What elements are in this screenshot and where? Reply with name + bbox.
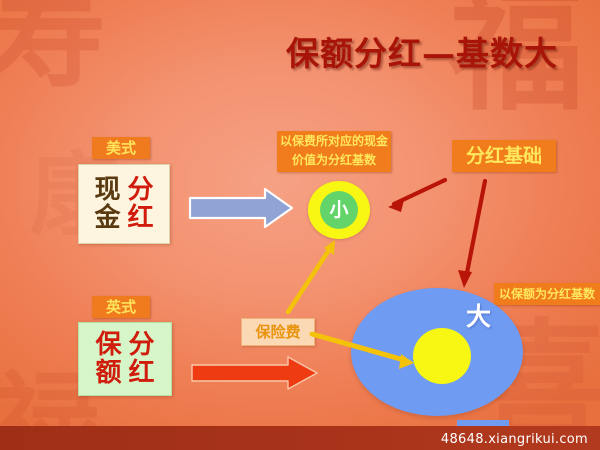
watermark-url: 48648.xiangrikui.com	[441, 432, 588, 447]
arrow-premium-to-big-circle	[312, 334, 414, 369]
arrow-basis-to-big-circle	[458, 181, 485, 288]
arrow-premium-to-small-circle	[288, 240, 335, 312]
arrow-cash-to-small-circle	[190, 189, 292, 227]
arrow-basis-to-small-circle	[388, 180, 445, 212]
arrow-sum-to-big-circle	[192, 357, 317, 389]
slide-canvas: 寿 福 禄 喜 康 保额分红—基数大 美式 现 金 分 红 英式 保 额 分 红…	[0, 0, 600, 450]
arrow-layer	[0, 0, 600, 450]
